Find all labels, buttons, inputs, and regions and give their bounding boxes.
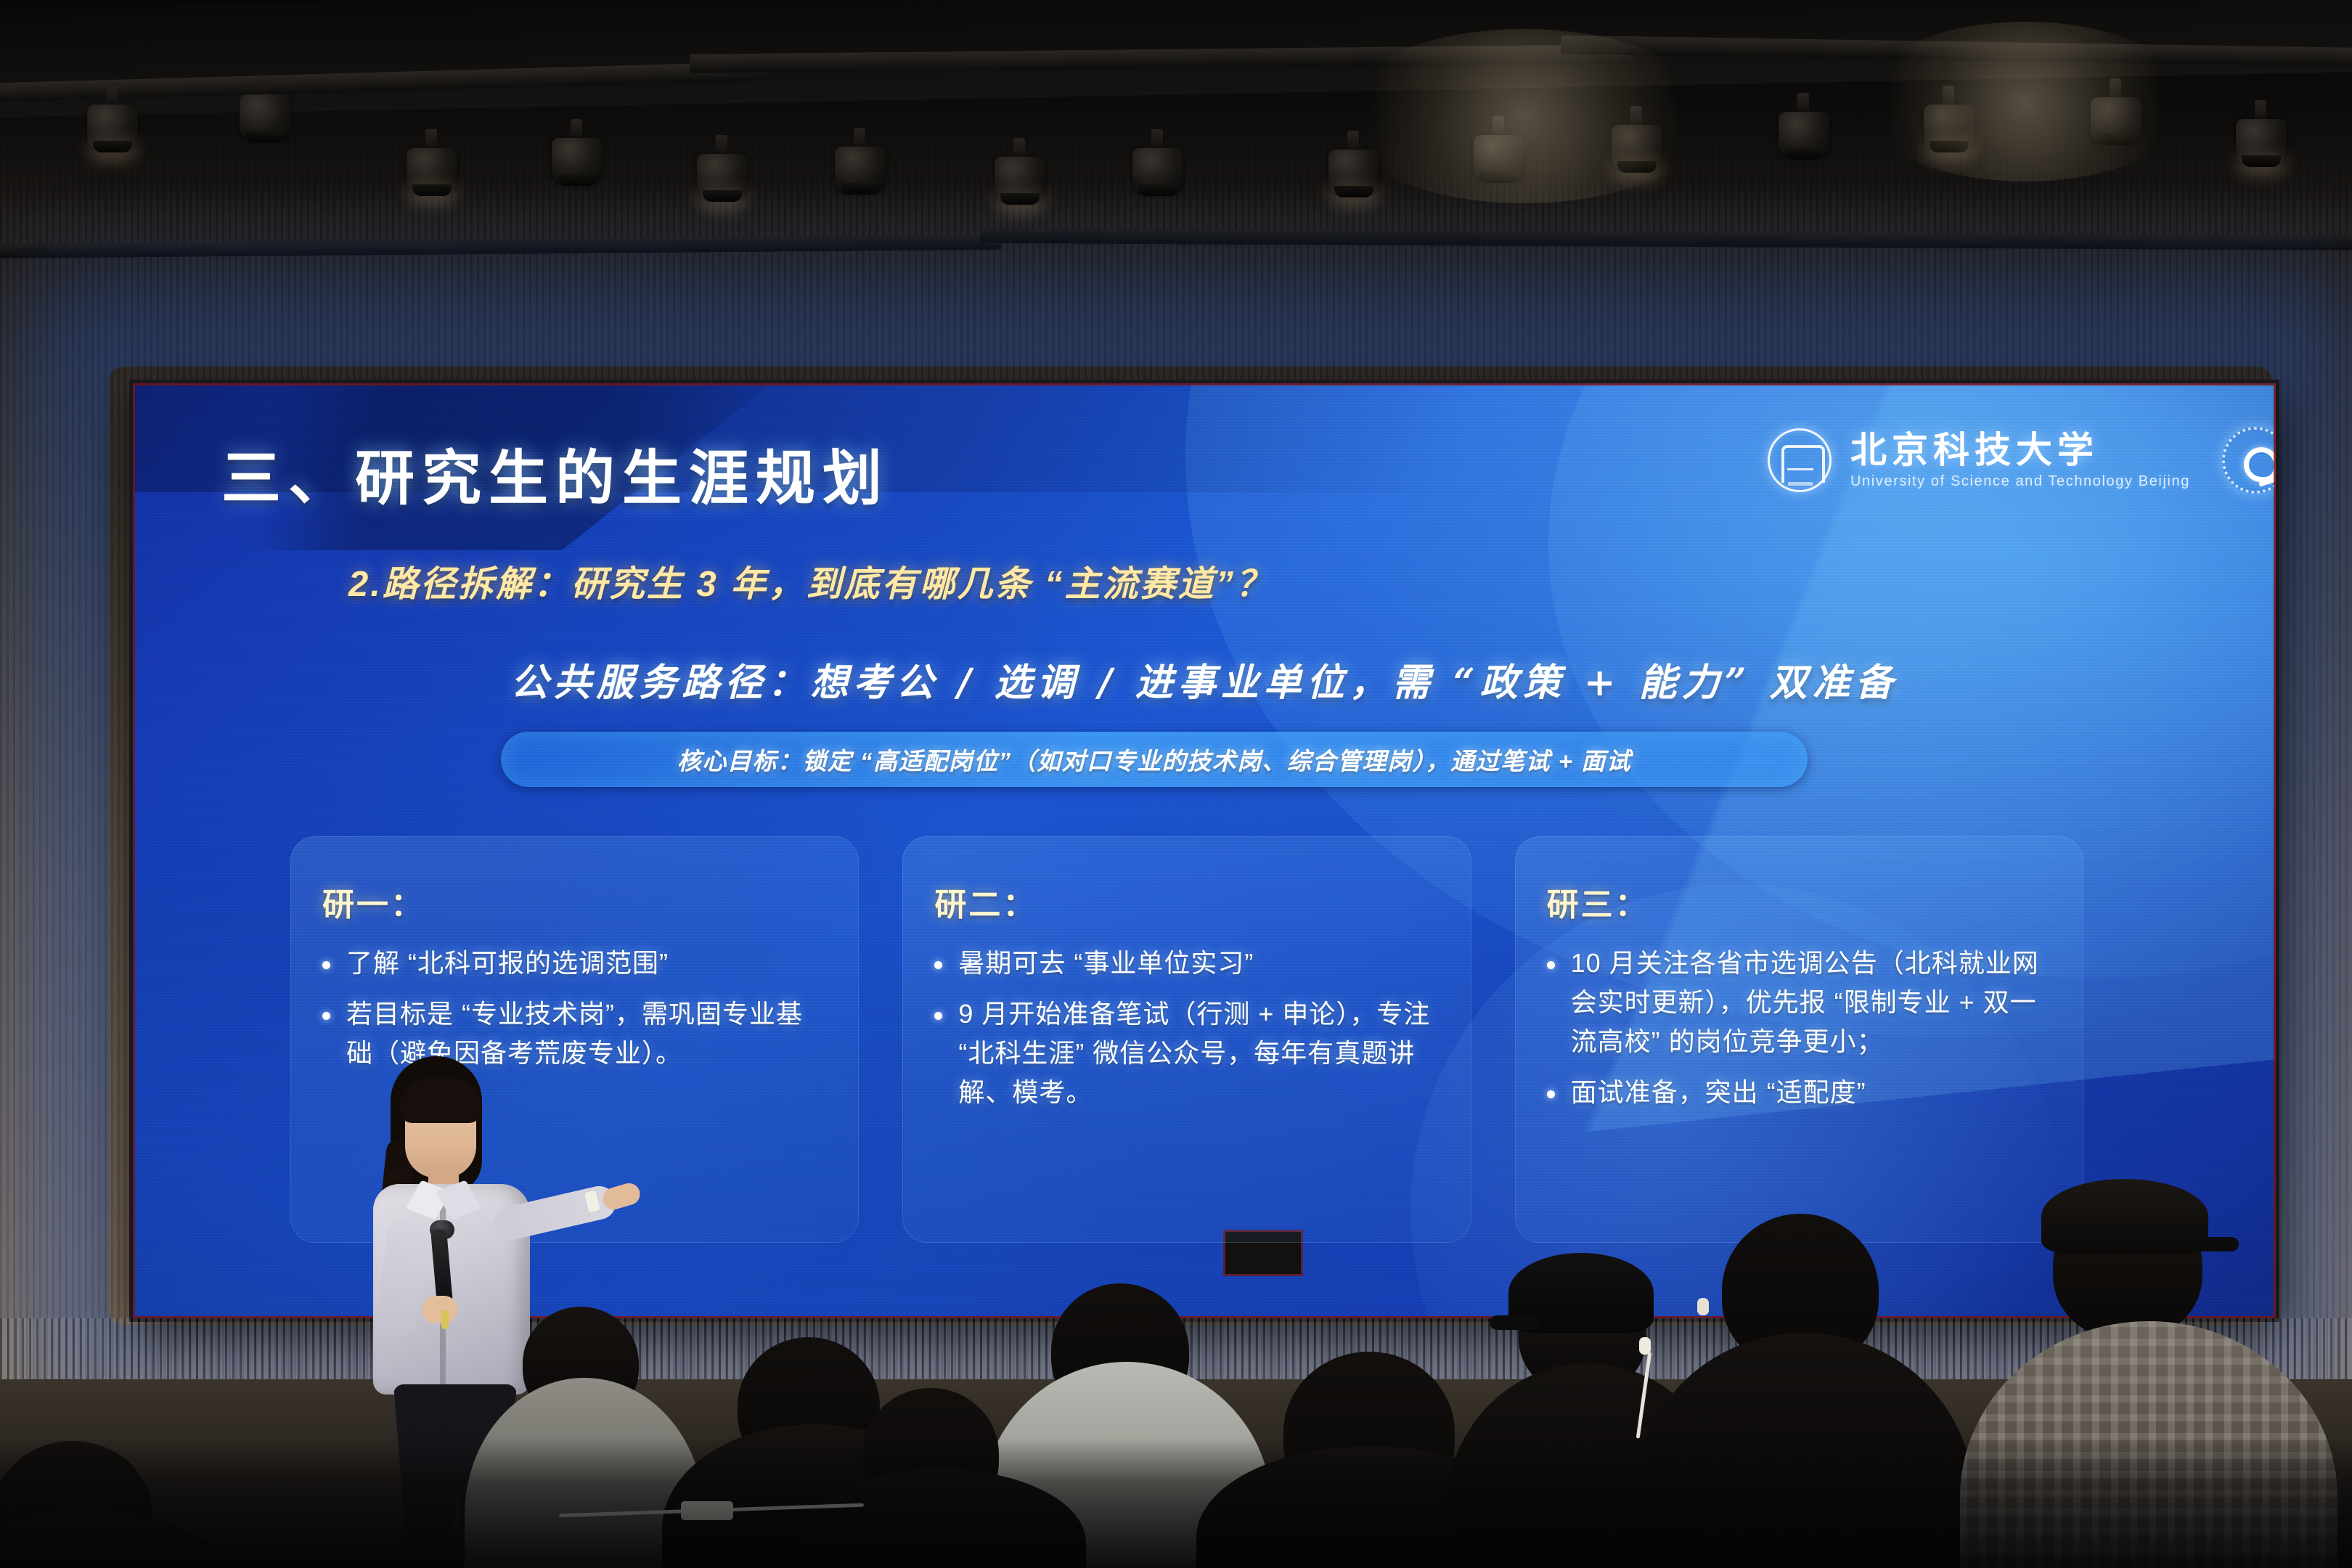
microphone-tip xyxy=(441,1310,449,1329)
presenter-pointing-hand xyxy=(600,1180,642,1212)
people-layer xyxy=(0,0,2352,1568)
presenter-fringe xyxy=(399,1078,482,1123)
presenter-hand xyxy=(422,1296,457,1323)
earbud-icon xyxy=(1697,1298,1709,1315)
foreground-shadow xyxy=(0,1437,2352,1568)
lecture-hall-photo: 三、研究生的生涯规划 北京科技大学 University of Science … xyxy=(0,0,2352,1568)
